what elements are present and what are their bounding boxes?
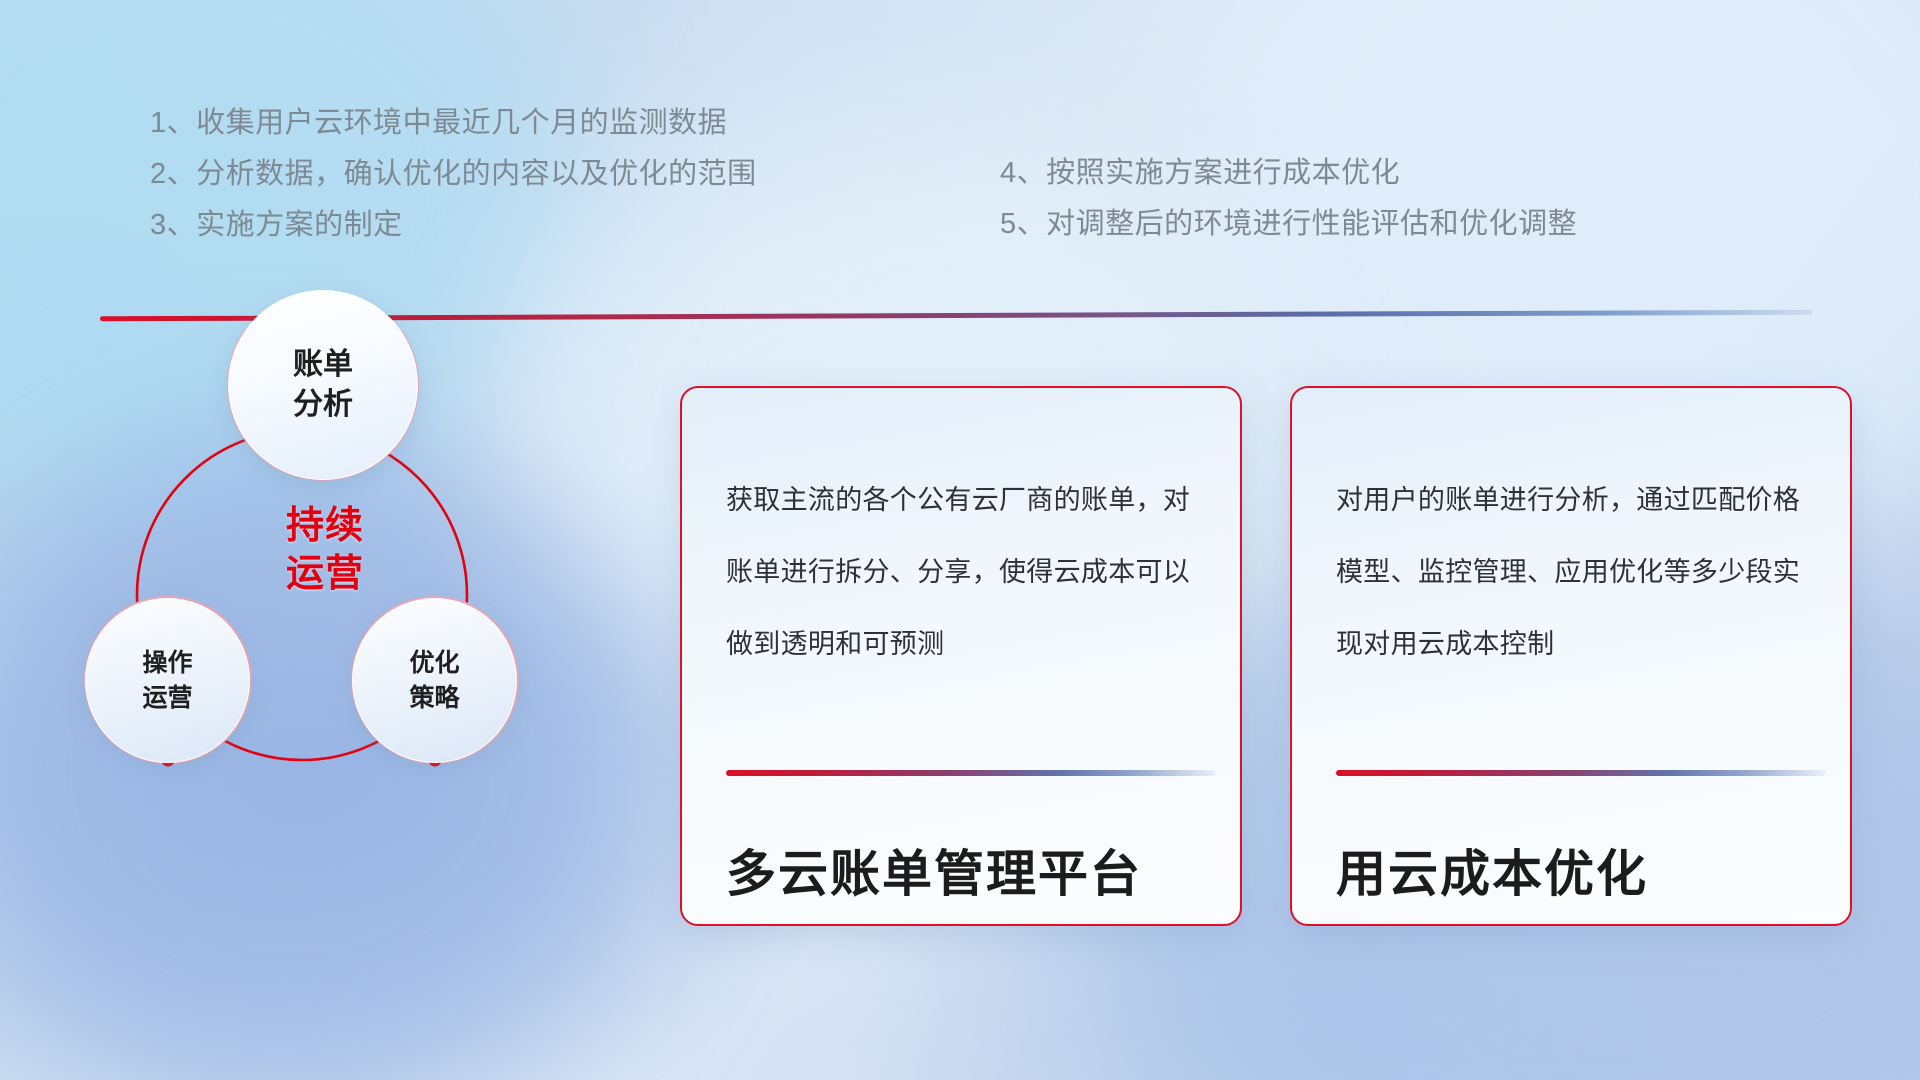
venn-bubble-label-line1: 操作 bbox=[142, 646, 192, 681]
step-item: 3、实施方案的制定 bbox=[150, 200, 757, 251]
card-divider bbox=[726, 770, 1216, 776]
venn-bubble-billing-analysis[interactable]: 账单 分析 bbox=[228, 290, 418, 480]
venn-bubble-operations[interactable]: 操作 运营 bbox=[85, 598, 250, 763]
card-body-text: 对用户的账单进行分析，通过匹配价格模型、监控管理、应用优化等多少段实现对用云成本… bbox=[1336, 464, 1814, 680]
venn-center-label-line1: 持续 bbox=[250, 502, 400, 550]
venn-bubble-optimization-strategy[interactable]: 优化 策略 bbox=[352, 598, 517, 763]
venn-bubble-label-line1: 账单 bbox=[293, 345, 353, 385]
step-item: 1、收集用户云环境中最近几个月的监测数据 bbox=[150, 98, 757, 149]
card-divider bbox=[1336, 770, 1826, 776]
slide-canvas: 1、收集用户云环境中最近几个月的监测数据 2、分析数据，确认优化的内容以及优化的… bbox=[0, 0, 1920, 1080]
venn-center-label: 持续 运营 bbox=[250, 502, 400, 598]
feature-card-multicloud-billing[interactable]: 获取主流的各个公有云厂商的账单，对账单进行拆分、分享，使得云成本可以做到透明和可… bbox=[680, 386, 1242, 926]
venn-bubble-label-line2: 策略 bbox=[409, 681, 459, 716]
card-title: 多云账单管理平台 bbox=[726, 834, 1142, 906]
step-item: 5、对调整后的环境进行性能评估和优化调整 bbox=[1000, 199, 1577, 250]
venn-bubble-label-line2: 运营 bbox=[142, 681, 192, 716]
step-item: 2、分析数据，确认优化的内容以及优化的范围 bbox=[150, 149, 757, 200]
venn-bubble-label-line2: 分析 bbox=[293, 385, 353, 425]
venn-diagram: 账单 分析 操作 运营 优化 策略 持续 运营 bbox=[80, 330, 550, 830]
venn-center-label-line2: 运营 bbox=[250, 550, 400, 598]
feature-card-cloud-cost-optimization[interactable]: 对用户的账单进行分析，通过匹配价格模型、监控管理、应用优化等多少段实现对用云成本… bbox=[1290, 386, 1852, 926]
card-body-text: 获取主流的各个公有云厂商的账单，对账单进行拆分、分享，使得云成本可以做到透明和可… bbox=[726, 464, 1204, 680]
steps-right-column: 4、按照实施方案进行成本优化 5、对调整后的环境进行性能评估和优化调整 bbox=[1000, 148, 1577, 250]
card-title: 用云成本优化 bbox=[1336, 834, 1648, 906]
venn-bubble-label-line1: 优化 bbox=[409, 646, 459, 681]
steps-left-column: 1、收集用户云环境中最近几个月的监测数据 2、分析数据，确认优化的内容以及优化的… bbox=[150, 98, 757, 251]
step-item: 4、按照实施方案进行成本优化 bbox=[1000, 148, 1577, 199]
